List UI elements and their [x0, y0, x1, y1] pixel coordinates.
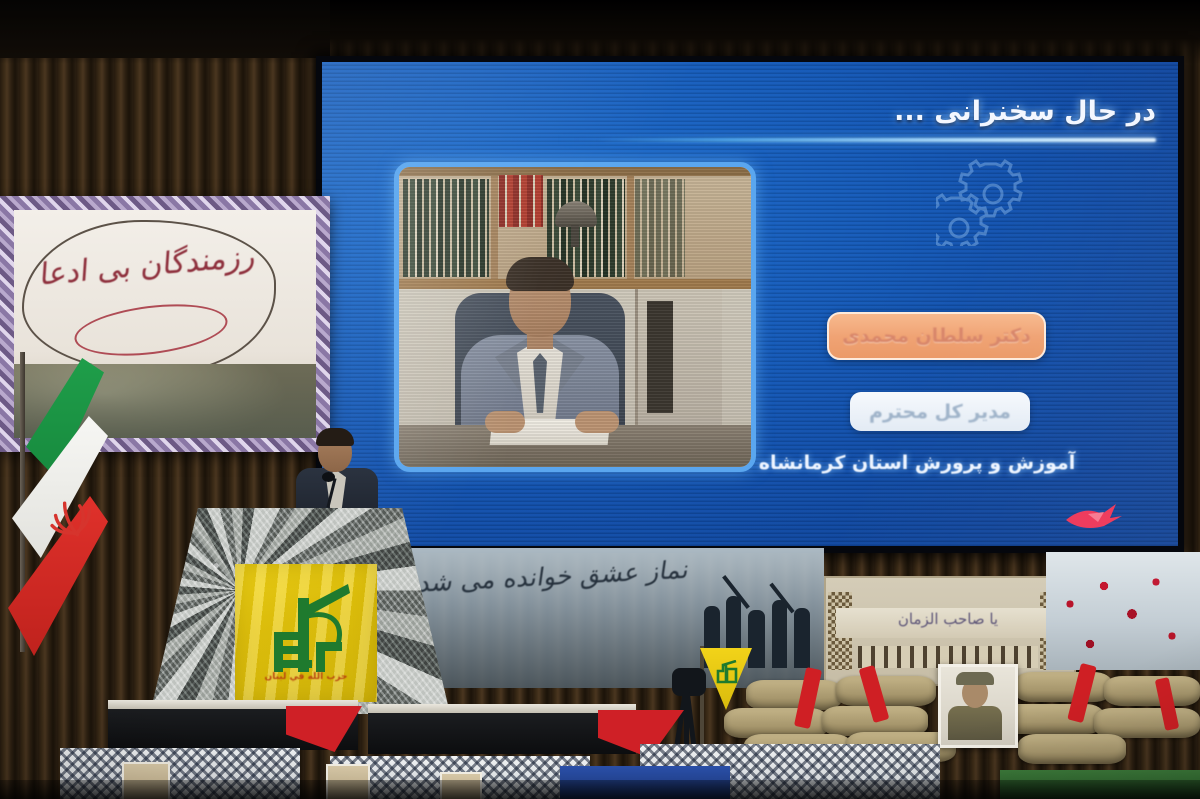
screenshot-root: در حال سخنرانی ... — [0, 0, 1200, 799]
war-scene-backdrop: نماز عشق خوانده می شد — [404, 548, 824, 688]
speaker-name-badge: دکتر سلطان محمدی — [827, 312, 1046, 360]
video-call-tile[interactable] — [394, 162, 756, 472]
speaker-name-label: دکتر سلطان محمدی — [842, 325, 1031, 347]
video-glare — [399, 167, 751, 467]
shrine-calligraphy-text: یا صاحب الزمان — [840, 610, 1056, 628]
ceiling-panel — [0, 0, 330, 58]
soldier-silhouette — [772, 600, 787, 668]
podium-speaker-hair — [316, 428, 354, 446]
soldier-silhouette — [794, 608, 810, 668]
portrait-military-cap — [956, 672, 994, 685]
led-screen: در حال سخنرانی ... — [322, 62, 1178, 546]
hezbollah-emblem-icon — [262, 580, 354, 678]
gears-icon — [936, 154, 1028, 250]
organization-label: آموزش و پرورش استان کرمانشاه — [752, 452, 1082, 474]
hezbollah-emblem-small — [714, 660, 740, 686]
red-tulip-backdrop — [1046, 552, 1200, 670]
speaker-role-badge: مدیر کل محترم — [850, 392, 1030, 431]
war-backdrop-calligraphy: نماز عشق خوانده می شد — [415, 555, 691, 598]
title-rule — [596, 138, 1156, 142]
bird-logo — [1064, 502, 1126, 536]
casket-lid — [368, 704, 636, 713]
speaker-role-label: مدیر کل محترم — [869, 401, 1011, 423]
casket — [368, 708, 636, 754]
slide-status-header: در حال سخنرانی ... — [736, 96, 1156, 127]
microphone-icon — [322, 472, 335, 482]
sandbag-stack — [1014, 672, 1112, 702]
foreground-shadow — [0, 780, 1200, 799]
soldier-silhouette — [748, 610, 765, 668]
iran-flag — [8, 358, 114, 656]
hezbollah-flag-caption: حزب الله في لبنان — [240, 672, 372, 682]
